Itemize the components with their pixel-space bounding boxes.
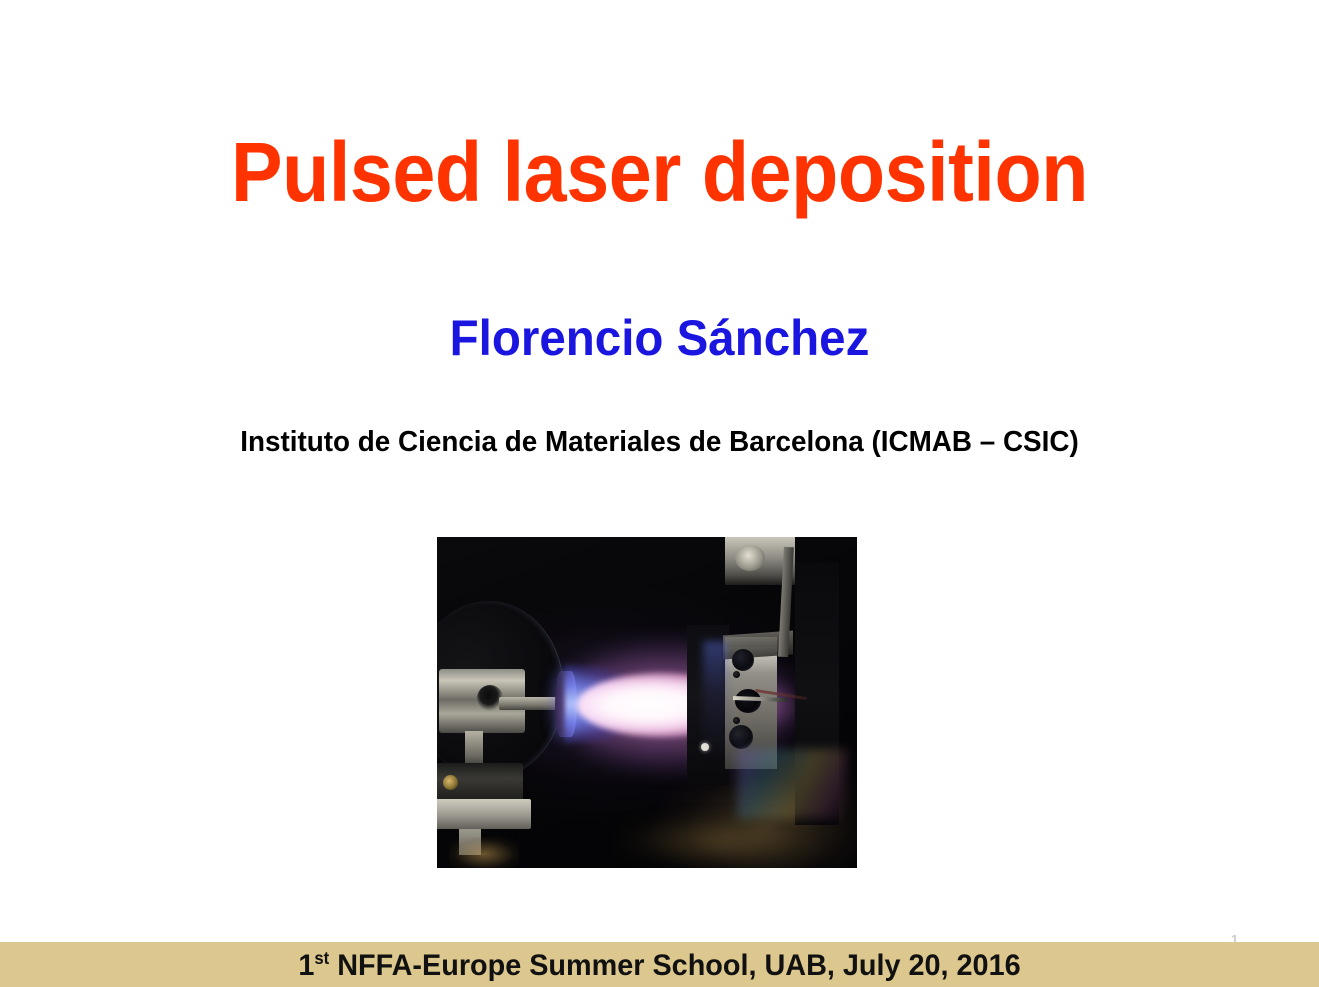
footer-text: 1st NFFA-Europe Summer School, UAB, July…: [26, 951, 1292, 981]
substrate-knob-upper: [732, 649, 754, 671]
substrate-knob-lower: [729, 725, 753, 749]
warm-reflection: [449, 837, 519, 868]
iridescent-sheen-upper: [703, 641, 727, 761]
presentation-slide: Pulsed laser deposition Florencio Sánche…: [0, 0, 1319, 987]
target-neck: [465, 731, 483, 767]
substrate-hole-lower: [733, 717, 740, 724]
top-metal-cap: [735, 545, 765, 571]
page-title: Pulsed laser deposition: [53, 130, 1266, 214]
target-mount-plate: [437, 799, 531, 829]
photo-background: [437, 537, 857, 868]
footer-event-text: NFFA-Europe Summer School, UAB, July 20,…: [329, 949, 1020, 982]
author-name: Florencio Sánchez: [33, 313, 1286, 363]
target-shaft: [499, 697, 557, 710]
plasma-plume-photo: [437, 537, 857, 868]
footer-ordinal-suffix: st: [314, 948, 329, 968]
bottom-warm-glow: [617, 813, 817, 868]
substrate-ring: [735, 689, 761, 713]
iridescent-sheen-lower: [737, 749, 847, 819]
substrate-hole-upper: [733, 671, 740, 678]
target-screw: [443, 775, 458, 790]
affiliation-text: Instituto de Ciencia de Materiales de Ba…: [26, 428, 1292, 457]
footer-ordinal-number: 1: [298, 949, 314, 982]
